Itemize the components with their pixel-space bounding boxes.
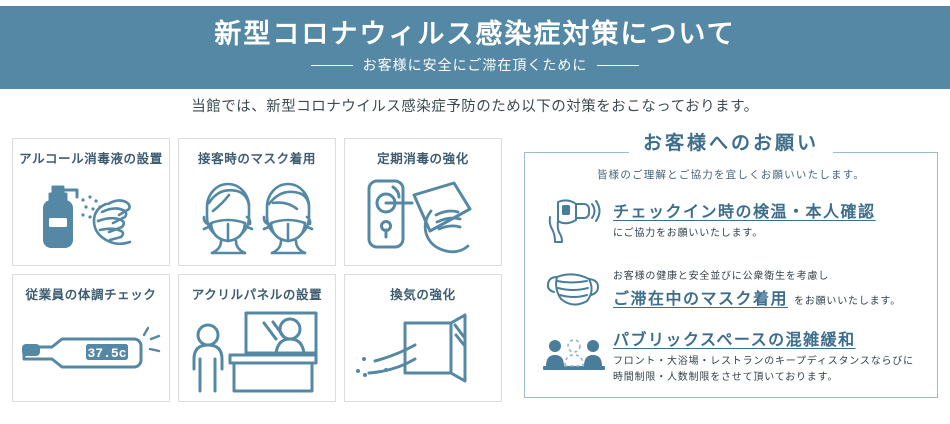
- page-title: 新型コロナウィルス感染症対策について: [214, 20, 735, 50]
- door-handle-wipe-icon: [345, 167, 501, 265]
- request-item-checkin-temperature: チェックイン時の検温・本人確認 にご協力をお願いいたします。: [525, 192, 937, 248]
- measure-card-title: 従業員の体調チェック: [25, 284, 156, 303]
- measure-card-staff-mask: 接客時のマスク着用: [178, 138, 336, 266]
- measures-grid: アルコール消毒液の設置: [12, 138, 504, 402]
- banner-subtitle: お客様に安全にご滞在頂くために: [363, 55, 588, 75]
- measure-card-ventilation: 換気の強化: [344, 274, 502, 402]
- request-item-public-space-distancing: パブリックスペースの混雑緩和 フロント・大浴場・レストランのキープディスタンスな…: [525, 326, 937, 385]
- measure-card-title: 定期消毒の強化: [377, 148, 469, 167]
- header-banner: 新型コロナウィルス感染症対策について お客様に安全にご滞在頂くために: [0, 6, 950, 89]
- request-item-wear-mask: お客様の健康と安全並びに公衆衛生を考慮し ご滞在中のマスク着用 をお願いいたしま…: [525, 260, 937, 316]
- measure-card-title: アルコール消毒液の設置: [19, 148, 163, 167]
- request-headline: ご滞在中のマスク着用: [613, 285, 788, 309]
- rule-left-decoration: [311, 65, 353, 66]
- panel-note: 皆様のご理解とご協力を宜しくお願いいたします。: [525, 167, 937, 182]
- request-text-body: お客様の健康と安全並びに公衆衛生を考慮し ご滞在中のマスク着用 をお願いいたしま…: [605, 267, 923, 309]
- request-subtext: フロント・大浴場・レストランのキープディスタンスならびに 時間制限・人数制限をさ…: [613, 354, 923, 385]
- face-mask-icon: [543, 265, 605, 311]
- measure-card-acrylic-panel: アクリルパネルの設置: [178, 274, 336, 402]
- request-list: チェックイン時の検温・本人確認 にご協力をお願いいたします。 お客様の健康と安全…: [525, 192, 937, 385]
- request-pretext: お客様の健康と安全並びに公衆衛生を考慮し: [613, 267, 923, 282]
- guest-request-panel: 皆様のご理解とご協力を宜しくお願いいたします。: [524, 152, 938, 398]
- panel-heading-text: お客様へのお願い: [629, 134, 833, 153]
- banner-subtitle-group: お客様に安全にご滞在頂くために: [311, 55, 640, 75]
- sanitizer-bottle-icon: [13, 167, 169, 265]
- request-subtext: にご協力をお願いいたします。: [613, 226, 923, 242]
- social-distance-people-icon: [543, 335, 605, 377]
- rule-right-decoration: [597, 65, 639, 66]
- masked-faces-icon: [179, 167, 335, 265]
- measure-card-title: アクリルパネルの設置: [192, 284, 322, 303]
- reception-acrylic-panel-icon: [179, 303, 335, 401]
- measure-card-sanitizer: アルコール消毒液の設置: [12, 138, 170, 266]
- request-text-body: パブリックスペースの混雑緩和 フロント・大浴場・レストランのキープディスタンスな…: [605, 326, 923, 385]
- thermometer-value: 37.5c: [87, 346, 126, 361]
- measure-card-staff-health-check: 従業員の体調チェック 37.5c: [12, 274, 170, 402]
- request-suffix: をお願いいたします。: [794, 292, 901, 307]
- request-headline: パブリックスペースの混雑緩和: [613, 326, 856, 350]
- open-window-airflow-icon: [345, 303, 501, 401]
- lead-paragraph: 当館では、新型コロナウイルス感染症予防のため以下の対策をおこなっております。: [0, 95, 950, 116]
- measure-card-periodic-disinfection: 定期消毒の強化: [344, 138, 502, 266]
- request-text-body: チェックイン時の検温・本人確認 にご協力をお願いいたします。: [605, 198, 923, 242]
- thermometer-icon: 37.5c: [13, 303, 169, 401]
- measure-card-title: 接客時のマスク着用: [198, 148, 316, 167]
- infrared-thermometer-gun-icon: [543, 194, 605, 246]
- request-headline: チェックイン時の検温・本人確認: [613, 198, 876, 222]
- panel-heading: お客様へのお願い: [524, 134, 938, 153]
- measure-card-title: 換気の強化: [390, 284, 456, 303]
